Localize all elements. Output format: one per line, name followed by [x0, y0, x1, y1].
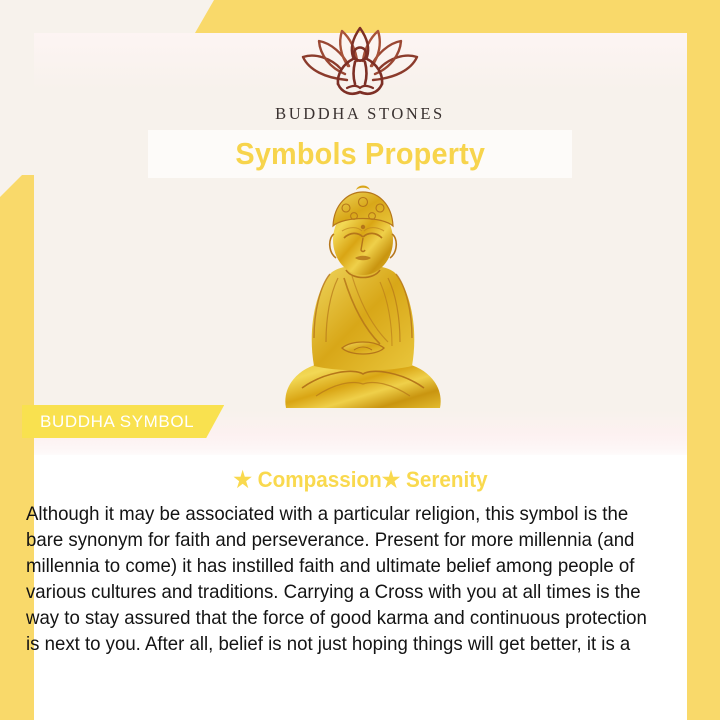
content-subtitle: ★ Compassion★ Serenity: [54, 467, 668, 493]
content-area: ★ Compassion★ Serenity Although it may b…: [34, 455, 687, 688]
symbol-tag-label: BUDDHA SYMBOL: [40, 412, 194, 432]
bottom-left-band: [0, 662, 34, 720]
bottom-white-strip: [34, 662, 687, 720]
page-title: Symbols Property: [235, 136, 485, 172]
brand-logo: BUDDHA STONES: [0, 22, 720, 124]
title-banner: Symbols Property: [148, 130, 572, 178]
bottom-right-band: [687, 662, 720, 720]
poster-page: BUDDHA STONES Symbols Property: [0, 0, 720, 720]
symbol-tag-banner: BUDDHA SYMBOL: [22, 405, 224, 438]
lotus-meditation-icon: [285, 22, 435, 100]
brand-name: BUDDHA STONES: [0, 104, 720, 124]
golden-seated-buddha-statue: [268, 182, 458, 408]
